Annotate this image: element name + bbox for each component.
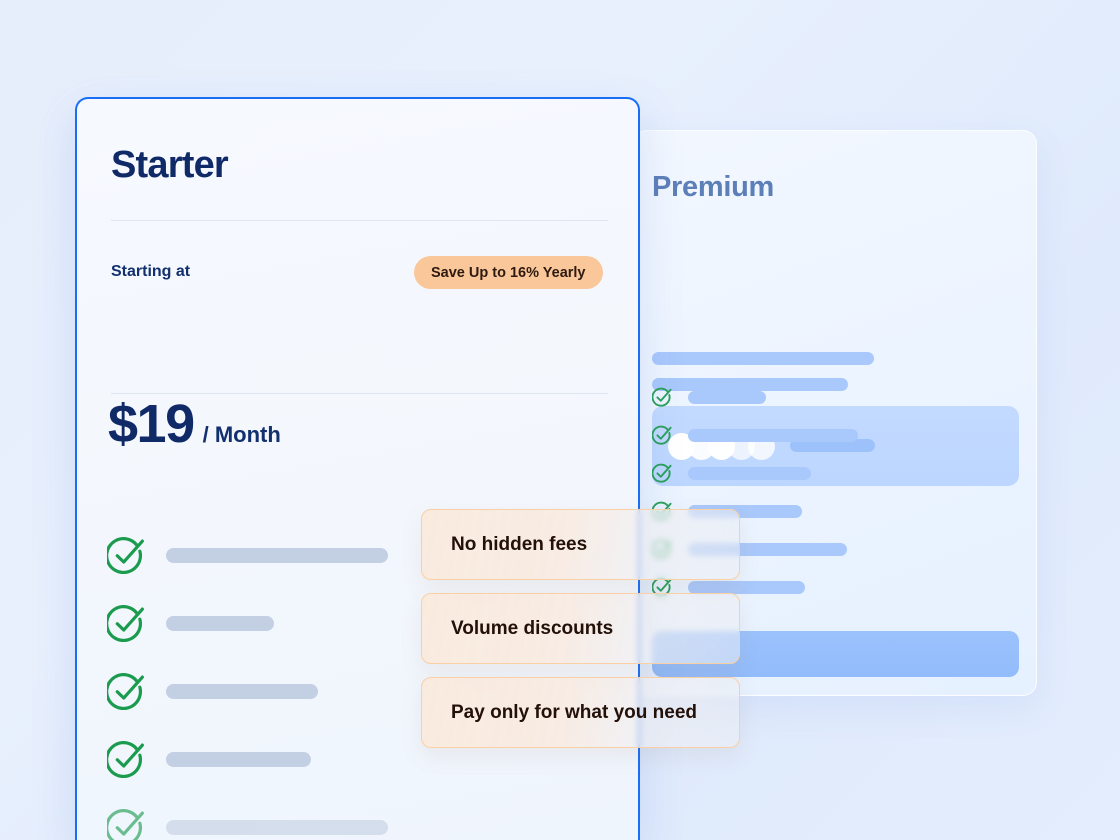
tooltip-label: Volume discounts (451, 618, 613, 640)
starter-feature-skeleton-bar (166, 752, 311, 767)
starter-feature-row (107, 536, 388, 574)
premium-plan-title: Premium (652, 171, 774, 204)
divider-bottom (111, 393, 608, 394)
check-circle-icon (107, 808, 145, 840)
save-badge: Save Up to 16% Yearly (414, 256, 603, 289)
starter-plan-title: Starter (111, 144, 228, 187)
starter-feature-row (107, 740, 311, 778)
premium-feature-row (652, 463, 811, 483)
tooltip-card-no-hidden-fees[interactable]: No hidden fees (421, 509, 740, 580)
starter-feature-skeleton-bar (166, 616, 274, 631)
check-circle-icon (652, 425, 672, 445)
price-row: $19 / Month (108, 397, 281, 451)
tooltip-card-pay-only-for-what-you-need[interactable]: Pay only for what you need (421, 677, 740, 748)
premium-feature-skeleton-bar (688, 467, 811, 480)
price-period: / Month (203, 422, 281, 448)
starter-feature-skeleton-bar (166, 820, 388, 835)
tooltip-card-volume-discounts[interactable]: Volume discounts (421, 593, 740, 664)
starter-feature-skeleton-bar (166, 684, 318, 699)
starter-feature-skeleton-bar (166, 548, 388, 563)
premium-feature-skeleton-bar (688, 429, 858, 442)
pricing-illustration: Premium Starter Starting at Save Up to 1… (0, 0, 1120, 840)
premium-feature-skeleton-bar (688, 391, 766, 404)
tooltip-label: Pay only for what you need (451, 702, 697, 724)
check-circle-icon (652, 387, 672, 407)
premium-feature-row (652, 425, 858, 445)
check-circle-icon (107, 740, 145, 778)
divider-top (111, 220, 608, 221)
tooltip-label: No hidden fees (451, 534, 587, 556)
starting-at-label: Starting at (111, 263, 190, 281)
price-amount: $19 (108, 397, 194, 451)
premium-feature-skeleton-bar (688, 581, 805, 594)
starter-feature-row (107, 808, 388, 840)
premium-header-skeleton-bar-1 (652, 352, 874, 365)
starter-feature-row (107, 672, 318, 710)
check-circle-icon (107, 536, 145, 574)
check-circle-icon (107, 672, 145, 710)
starter-feature-row (107, 604, 274, 642)
check-circle-icon (107, 604, 145, 642)
check-circle-icon (652, 463, 672, 483)
premium-feature-row (652, 387, 766, 407)
